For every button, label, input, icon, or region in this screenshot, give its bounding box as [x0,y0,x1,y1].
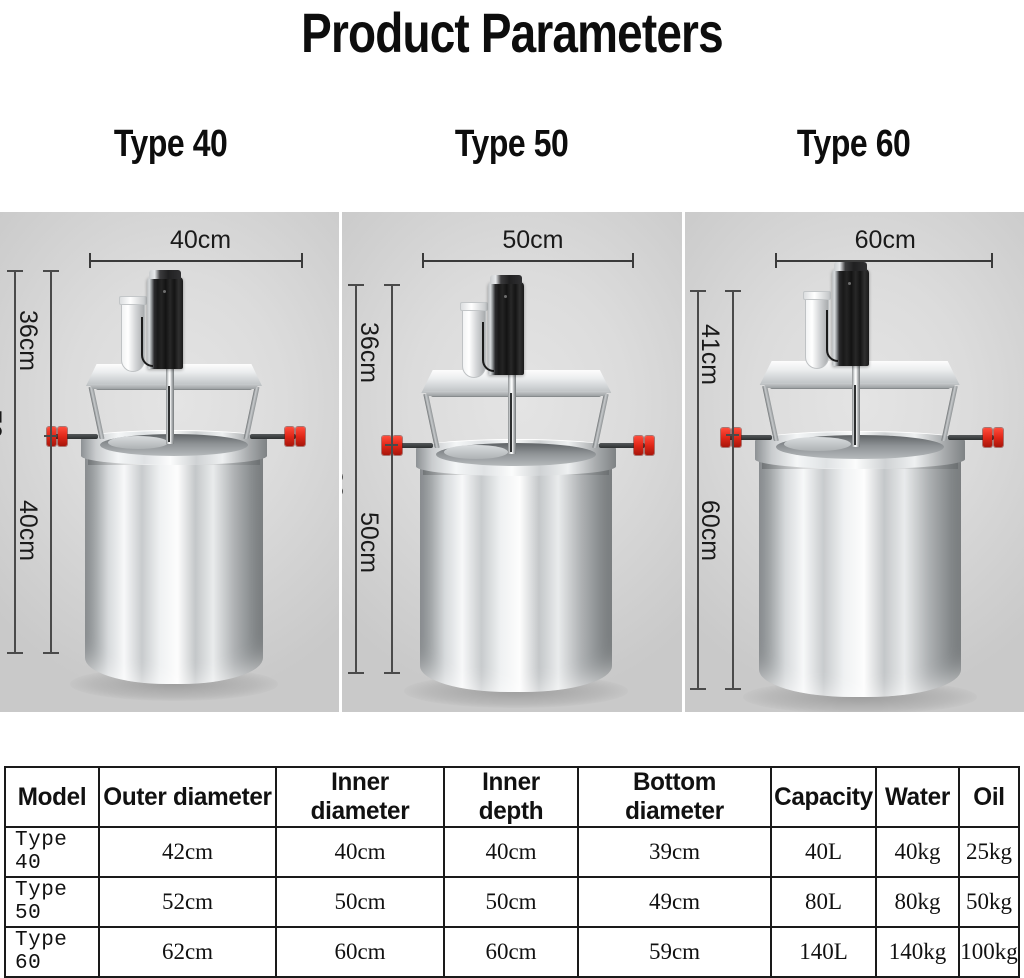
upper-height-dimension-label: 36cm [14,310,42,371]
cell-water: 40kg [876,827,959,877]
inner-height-cap-top [43,270,59,272]
width-dimension-cap-left [775,253,777,268]
cell-bottom-diameter: 49cm [578,877,771,927]
cell-inner-diameter: 40cm [276,827,444,877]
total-height-cap-top [690,290,706,292]
cell-water: 80kg [876,877,959,927]
product-panel-type-60: 60cm 41cm 60cm 101cm [685,212,1024,712]
width-dimension-label: 60cm [855,226,916,254]
clamp-handle-right-2 [994,428,1003,447]
total-height-cap-top [7,270,23,272]
column-header-water: Water [877,767,958,827]
lid-plate-edge [88,384,260,389]
width-dimension-cap-right [991,253,993,268]
specification-table-container: Model Outer diameter Inner diameter Inne… [4,766,1018,978]
column-header-inner-depth: Inner depth [446,767,576,827]
lower-height-dimension-label: 50cm [355,512,383,573]
frame-leg-left [424,394,440,448]
table-header-row: Model Outer diameter Inner diameter Inne… [5,767,1019,827]
cell-inner-depth: 60cm [444,927,578,977]
type-label-cell-50: Type 50 [341,118,682,170]
inner-height-mid-tick [726,434,739,436]
total-height-cap-top [348,284,364,286]
cell-inner-depth: 40cm [444,827,578,877]
width-dimension-line [89,260,303,262]
pot-loop-handle-right [258,444,296,466]
pot-interior-highlight [784,437,851,451]
column-header-inner-diameter: Inner diameter [279,767,442,827]
inner-height-dimension-line [732,290,734,690]
mixer-shaft-line [510,393,512,452]
mixer-shaft-line [854,385,856,445]
total-height-dimension-label: 76cm [0,410,6,471]
inner-height-cap-bottom [384,672,400,674]
motor-bracket-top [460,302,488,311]
column-header-bottom-diameter: Bottom diameter [581,767,768,827]
cell-outer-diameter: 52cm [99,877,276,927]
mixer-machine-illustration-60 [685,212,1023,712]
upper-height-dimension-label: 41cm [696,324,724,385]
inner-height-cap-bottom [43,652,59,654]
lower-height-dimension-label: 40cm [14,500,42,561]
pot-interior-highlight [444,445,508,459]
cell-outer-diameter: 42cm [99,827,276,877]
motor-power-cable [482,322,494,372]
type-label-50: Type 50 [455,122,569,166]
type-label-cell-40: Type 40 [0,118,341,170]
width-dimension-cap-left [89,253,91,268]
lower-height-dimension-label: 60cm [696,500,724,561]
motor-cap [834,262,867,271]
upper-height-dimension-label: 36cm [355,322,383,383]
cell-water: 140kg [876,927,959,977]
cell-inner-depth: 50cm [444,877,578,927]
total-height-dimension-label: 86cm [342,470,347,531]
pot-body [85,444,263,684]
product-panel-type-40: 40cm 36cm 40cm 76cm [0,212,339,712]
motor-indicator-dot [163,290,166,293]
clamp-handle-right-2 [296,427,305,446]
frame-leg-left [762,386,779,441]
cell-inner-diameter: 50cm [276,877,444,927]
cell-model: Type 60 [5,927,99,977]
product-image-panels: 40cm 36cm 40cm 76cm [0,212,1024,712]
product-panel-type-50: 50cm 36cm 50cm 86cm [342,212,681,712]
type-label-cell-60: Type 60 [683,118,1024,170]
width-dimension-label: 50cm [502,226,563,254]
table-row: Type 50 52cm 50cm 50cm 49cm 80L 80kg 50k… [5,877,1019,927]
motor-cap [490,275,522,284]
motor-bracket-top [119,296,147,305]
width-dimension-line [775,260,993,262]
cell-model: Type 50 [5,877,99,927]
table-row: Type 60 62cm 60cm 60cm 59cm 140L 140kg 1… [5,927,1019,977]
cell-bottom-diameter: 59cm [578,927,771,977]
cell-outer-diameter: 62cm [99,927,276,977]
motor-power-cable [141,317,153,367]
inner-height-cap-bottom [725,688,741,690]
cell-capacity: 80L [771,877,876,927]
cell-oil: 25kg [959,827,1019,877]
width-dimension-label: 40cm [170,226,231,254]
cell-model: Type 40 [5,827,99,877]
column-header-outer-diameter: Outer diameter [102,767,274,827]
frame-leg-left [88,387,104,439]
width-dimension-line [422,260,634,262]
frame-leg-right [243,387,259,439]
type-label-60: Type 60 [797,122,911,166]
motor-indicator-dot [848,282,851,285]
column-header-oil: Oil [960,767,1018,827]
cell-capacity: 40L [771,827,876,877]
type-label-40: Type 40 [114,122,228,166]
type-label-row: Type 40 Type 50 Type 60 [0,118,1024,170]
width-dimension-cap-right [301,253,303,268]
cell-inner-diameter: 60cm [276,927,444,977]
table-row: Type 40 42cm 40cm 40cm 39cm 40L 40kg 25k… [5,827,1019,877]
frame-leg-right [941,386,958,441]
width-dimension-cap-left [422,253,424,268]
column-header-capacity: Capacity [773,767,875,827]
inner-height-cap-top [725,290,741,292]
inner-height-cap-top [384,284,400,286]
pot-loop-handle-right [956,445,994,468]
inner-height-mid-tick [44,435,57,437]
total-height-cap-bottom [7,652,23,654]
inner-height-dimension-line [391,284,393,674]
cell-bottom-diameter: 39cm [578,827,771,877]
inner-height-dimension-line [50,270,52,654]
motor-cap [149,270,181,279]
pot-body [759,447,961,697]
pot-loop-handle-right [607,453,645,476]
clamp-handle-right-2 [645,436,654,455]
cell-capacity: 140L [771,927,876,977]
cell-oil: 50kg [959,877,1019,927]
page-title: Product Parameters [92,2,932,64]
cell-oil: 100kg [959,927,1019,977]
lid-plate-edge [423,391,609,396]
pot-interior-highlight [108,436,168,449]
total-height-dimension-label: 101cm [685,484,689,559]
total-height-cap-bottom [690,688,706,690]
inner-height-mid-tick [385,444,398,446]
pot-body [420,454,612,692]
motor-power-cable [826,310,838,362]
motor-bracket-top [803,291,831,300]
total-height-dimension-line [14,270,16,654]
frame-leg-right [593,394,609,448]
total-height-dimension-line [355,284,357,674]
total-height-cap-bottom [348,672,364,674]
mixer-shaft-line [168,386,170,442]
lid-plate-edge [762,383,958,388]
specification-table: Model Outer diameter Inner diameter Inne… [4,766,1020,978]
width-dimension-cap-right [632,253,634,268]
total-height-dimension-line [697,290,699,690]
column-header-model: Model [6,767,97,827]
